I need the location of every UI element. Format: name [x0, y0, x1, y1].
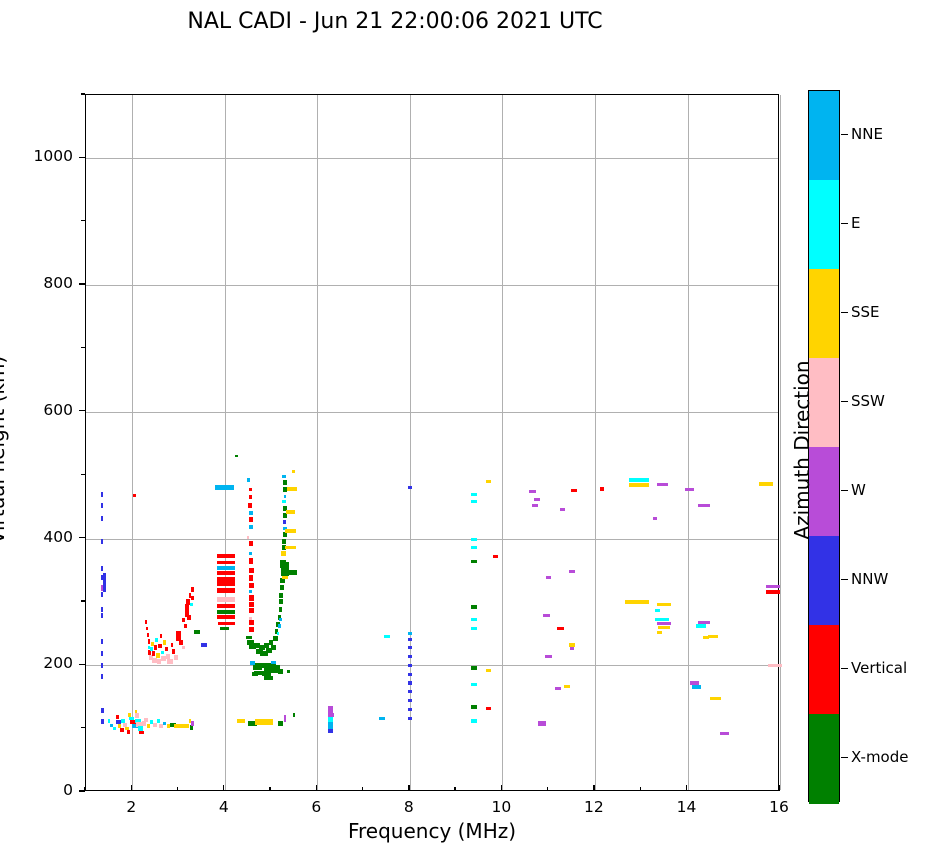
echo-point: [248, 503, 252, 507]
y-tick-label: 1000: [29, 147, 73, 165]
echo-point: [179, 640, 183, 645]
echo-point: [250, 661, 255, 665]
echo-point: [284, 715, 287, 721]
echo-point: [600, 487, 605, 491]
echo-point: [557, 627, 564, 631]
echo-point: [264, 676, 273, 680]
echo-point: [543, 614, 550, 617]
echo-point: [408, 708, 412, 711]
echo-point: [692, 685, 701, 689]
echo-point: [625, 600, 649, 604]
echo-point: [101, 651, 104, 656]
echo-point: [292, 470, 295, 474]
echo-point: [160, 634, 163, 638]
echo-point: [471, 493, 478, 496]
echo-point: [471, 605, 478, 609]
echo-point: [153, 723, 157, 727]
echo-point: [113, 727, 117, 731]
echo-point: [249, 627, 254, 632]
echo-point: [486, 480, 492, 484]
echo-point: [570, 647, 575, 650]
echo-point: [546, 576, 552, 579]
echo-point: [249, 558, 254, 564]
echo-point: [101, 516, 104, 521]
echo-point: [235, 455, 238, 458]
echo-point: [135, 713, 140, 718]
x-tick-label: 4: [201, 798, 247, 816]
echo-point: [287, 670, 290, 674]
echo-point: [493, 555, 499, 558]
echo-point: [217, 610, 236, 614]
echo-point: [152, 651, 155, 656]
echo-point: [147, 724, 151, 728]
echo-point: [218, 622, 235, 626]
gridline-vertical: [780, 95, 781, 790]
colorbar-band-e: [809, 180, 839, 270]
colorbar-label-ssw: SSW: [851, 392, 885, 410]
colorbar-label-nnw: NNW: [851, 570, 888, 588]
echo-point: [278, 669, 283, 673]
echo-point: [408, 681, 412, 684]
x-tick-mark-minor: [362, 787, 363, 791]
echo-point: [101, 674, 104, 679]
echo-point: [182, 618, 185, 622]
echo-point: [158, 644, 161, 648]
echo-point: [278, 721, 283, 726]
echo-point: [101, 708, 104, 713]
echo-point: [768, 664, 782, 667]
echo-point: [249, 620, 254, 625]
colorbar-label-nne: NNE: [851, 125, 883, 143]
x-tick-label: 10: [478, 798, 524, 816]
echo-point: [287, 487, 296, 491]
echo-point: [215, 485, 234, 490]
echo-point: [249, 541, 253, 547]
echo-point: [279, 607, 283, 612]
echo-point: [101, 639, 104, 644]
colorbar-band-nne: [809, 91, 839, 181]
colorbar-label-e: E: [851, 214, 860, 232]
echo-point: [279, 618, 282, 621]
y-tick-label: 200: [29, 654, 73, 672]
echo-point: [486, 669, 491, 672]
echo-point: [145, 620, 148, 624]
x-tick-mark-minor: [547, 787, 548, 791]
echo-point: [279, 599, 283, 604]
echo-point: [273, 636, 278, 641]
echo-point: [408, 486, 413, 489]
echo-point: [282, 539, 287, 544]
echo-point: [101, 592, 104, 597]
echo-point: [182, 724, 189, 728]
echo-point: [191, 596, 194, 600]
x-tick-mark-minor: [84, 787, 85, 791]
echo-point: [249, 583, 254, 589]
y-tick-mark: [79, 157, 85, 158]
echo-point: [184, 624, 187, 628]
echo-point: [150, 647, 153, 651]
echo-point: [698, 504, 710, 507]
echo-point: [249, 511, 253, 515]
echo-point: [187, 615, 191, 620]
echo-point: [629, 483, 648, 487]
y-tick-mark-minor: [81, 600, 85, 601]
echo-point: [253, 665, 262, 670]
echo-point: [237, 719, 244, 723]
echo-point: [103, 573, 106, 592]
colorbar-tick-mark: [841, 312, 848, 313]
echo-point: [249, 590, 252, 593]
echo-point: [408, 673, 412, 676]
echo-point: [471, 538, 478, 541]
data-layer: [86, 95, 778, 790]
echo-point: [120, 728, 124, 732]
echo-point: [271, 661, 276, 664]
echo-point: [146, 627, 149, 631]
y-tick-label: 600: [29, 401, 73, 419]
echo-point: [703, 636, 710, 639]
x-tick-mark-minor: [269, 787, 270, 791]
x-tick-mark: [501, 785, 502, 791]
echo-point: [278, 624, 281, 627]
echo-point: [217, 588, 235, 592]
colorbar-label: Azimuth Direction: [790, 300, 814, 600]
echo-point: [534, 498, 540, 501]
x-tick-label: 16: [756, 798, 802, 816]
echo-point: [271, 645, 277, 650]
echo-point: [293, 713, 296, 717]
echo-point: [191, 587, 194, 592]
echo-point: [379, 717, 386, 720]
echo-point: [255, 719, 274, 725]
echo-point: [154, 645, 157, 650]
y-axis-label: Virtual height (km): [0, 300, 9, 600]
echo-point: [142, 721, 146, 726]
echo-point: [217, 597, 236, 601]
echo-point: [545, 655, 552, 658]
echo-point: [408, 699, 412, 702]
echo-point: [174, 655, 179, 660]
echo-point: [708, 635, 718, 638]
echo-point: [486, 707, 491, 710]
echo-point: [471, 560, 478, 564]
colorbar-tick-mark: [841, 134, 848, 135]
echo-point: [139, 731, 144, 735]
echo-point: [133, 494, 136, 497]
echo-point: [101, 719, 104, 724]
echo-point: [471, 546, 478, 549]
y-tick-mark-minor: [81, 474, 85, 475]
echo-point: [217, 566, 236, 570]
echo-point: [249, 575, 254, 581]
plot-area: [85, 94, 779, 791]
echo-point: [710, 697, 721, 700]
echo-point: [759, 482, 773, 486]
x-tick-mark-minor: [454, 787, 455, 791]
echo-point: [658, 626, 670, 629]
ionogram-figure: NAL CADI - Jun 21 22:00:06 2021 UTC 0200…: [0, 0, 951, 856]
echo-point: [155, 638, 158, 642]
x-tick-label: 8: [386, 798, 432, 816]
y-tick-mark: [79, 664, 85, 665]
y-tick-mark-minor: [81, 727, 85, 728]
echo-point: [328, 729, 334, 733]
echo-point: [217, 554, 236, 558]
echo-point: [283, 532, 288, 537]
echo-point: [629, 478, 648, 482]
echo-point: [171, 643, 174, 647]
echo-point: [471, 705, 478, 709]
echo-point: [471, 627, 478, 630]
echo-point: [657, 622, 671, 625]
colorbar-label-w: W: [851, 481, 866, 499]
y-tick-mark-minor: [81, 220, 85, 221]
echo-point: [690, 681, 699, 684]
x-tick-label: 12: [571, 798, 617, 816]
echo-point: [101, 566, 104, 571]
page-title: NAL CADI - Jun 21 22:00:06 2021 UTC: [0, 9, 790, 34]
echo-point: [249, 595, 254, 601]
x-tick-label: 6: [293, 798, 339, 816]
echo-point: [101, 492, 104, 497]
echo-point: [101, 585, 104, 591]
echo-point: [163, 722, 166, 726]
x-tick-mark: [408, 785, 409, 791]
y-tick-label: 400: [29, 528, 73, 546]
echo-point: [285, 529, 295, 533]
echo-point: [766, 585, 780, 588]
echo-point: [408, 717, 412, 720]
echo-point: [471, 719, 478, 722]
echo-point: [279, 593, 283, 598]
echo-point: [165, 647, 168, 651]
echo-point: [408, 632, 413, 635]
echo-point: [148, 639, 151, 644]
echo-point: [249, 525, 253, 529]
echo-point: [220, 627, 229, 631]
colorbar-band-vertical: [809, 625, 839, 715]
echo-point: [194, 630, 200, 634]
colorbar-band-x-mode: [809, 714, 839, 804]
echo-point: [249, 608, 254, 613]
echo-point: [564, 685, 570, 688]
colorbar-tick-mark: [841, 757, 848, 758]
echo-point: [101, 503, 104, 508]
echo-point: [471, 500, 478, 503]
echo-point: [569, 570, 575, 573]
colorbar-tick-mark: [841, 490, 848, 491]
colorbar-label-sse: SSE: [851, 303, 880, 321]
echo-point: [281, 562, 288, 576]
colorbar-tick-mark: [841, 668, 848, 669]
colorbar-tick-mark: [841, 223, 848, 224]
echo-point: [281, 551, 286, 556]
y-tick-mark: [79, 537, 85, 538]
x-tick-mark: [593, 785, 594, 791]
echo-point: [655, 609, 660, 612]
echo-point: [101, 607, 104, 612]
echo-point: [696, 624, 706, 627]
y-tick-mark: [79, 410, 85, 411]
echo-point: [471, 683, 478, 686]
echo-point: [161, 656, 166, 661]
echo-point: [249, 488, 252, 491]
colorbar-label-x-mode: X-mode: [851, 748, 908, 766]
echo-point: [560, 508, 566, 511]
echo-point: [657, 483, 668, 486]
echo-point: [408, 655, 412, 658]
y-tick-label: 0: [29, 781, 73, 799]
echo-point: [217, 561, 236, 565]
echo-point: [116, 715, 119, 719]
echo-point: [108, 719, 111, 723]
echo-point: [249, 568, 254, 573]
x-axis-label: Frequency (MHz): [85, 819, 779, 843]
echo-point: [471, 618, 478, 621]
y-tick-mark-minor: [81, 93, 85, 94]
echo-point: [163, 640, 166, 644]
echo-point: [157, 719, 160, 723]
echo-point: [285, 546, 295, 550]
echo-point: [685, 488, 694, 491]
x-tick-mark: [316, 785, 317, 791]
echo-point: [247, 536, 250, 539]
echo-point: [249, 517, 253, 522]
echo-point: [284, 495, 287, 498]
echo-point: [408, 638, 412, 641]
echo-point: [384, 635, 391, 638]
echo-point: [655, 618, 669, 621]
echo-point: [252, 672, 258, 676]
echo-point: [287, 570, 296, 575]
echo-point: [280, 585, 284, 590]
echo-point: [249, 552, 252, 555]
colorbar-label-vertical: Vertical: [851, 659, 907, 677]
echo-point: [217, 604, 236, 608]
colorbar-tick-mark: [841, 401, 848, 402]
echo-point: [101, 663, 104, 668]
echo-point: [532, 504, 539, 507]
y-tick-mark: [79, 283, 85, 284]
x-tick-mark: [131, 785, 132, 791]
echo-point: [283, 513, 288, 518]
echo-point: [147, 633, 150, 637]
echo-point: [161, 651, 164, 655]
x-tick-mark: [686, 785, 687, 791]
x-tick-mark-minor: [640, 787, 641, 791]
echo-point: [191, 721, 194, 726]
echo-point: [538, 721, 546, 725]
x-tick-label: 2: [108, 798, 154, 816]
echo-point: [182, 646, 185, 650]
echo-point: [766, 590, 780, 594]
echo-point: [653, 517, 658, 520]
echo-point: [555, 687, 561, 690]
y-tick-mark-minor: [81, 347, 85, 348]
echo-point: [167, 659, 173, 664]
echo-point: [172, 649, 175, 654]
echo-point: [328, 713, 334, 717]
echo-point: [283, 480, 288, 485]
echo-point: [247, 478, 250, 482]
echo-point: [201, 643, 208, 647]
echo-point: [246, 636, 252, 640]
echo-point: [190, 603, 193, 607]
echo-point: [569, 643, 575, 646]
echo-point: [101, 613, 104, 618]
x-tick-mark: [778, 785, 779, 791]
echo-point: [283, 520, 287, 524]
x-tick-mark-minor: [177, 787, 178, 791]
y-tick-label: 800: [29, 274, 73, 292]
x-tick-label: 14: [663, 798, 709, 816]
echo-point: [101, 539, 104, 544]
echo-point: [698, 621, 710, 624]
echo-point: [277, 632, 280, 635]
echo-point: [571, 489, 577, 492]
echo-point: [408, 690, 412, 693]
echo-point: [529, 490, 536, 493]
echo-point: [657, 631, 662, 634]
echo-point: [249, 495, 252, 499]
echo-point: [249, 602, 254, 607]
colorbar-tick-mark: [841, 579, 848, 580]
echo-point: [408, 664, 412, 667]
echo-point: [471, 666, 478, 670]
echo-point: [286, 510, 295, 514]
x-tick-mark: [223, 785, 224, 791]
echo-point: [408, 646, 412, 649]
echo-point: [217, 582, 236, 586]
echo-point: [282, 475, 287, 479]
echo-point: [144, 718, 148, 722]
echo-point: [720, 732, 729, 735]
echo-point: [282, 500, 286, 503]
echo-point: [657, 603, 671, 607]
echo-point: [156, 653, 160, 658]
echo-point: [217, 615, 236, 619]
echo-point: [127, 730, 131, 734]
echo-point: [217, 571, 236, 575]
